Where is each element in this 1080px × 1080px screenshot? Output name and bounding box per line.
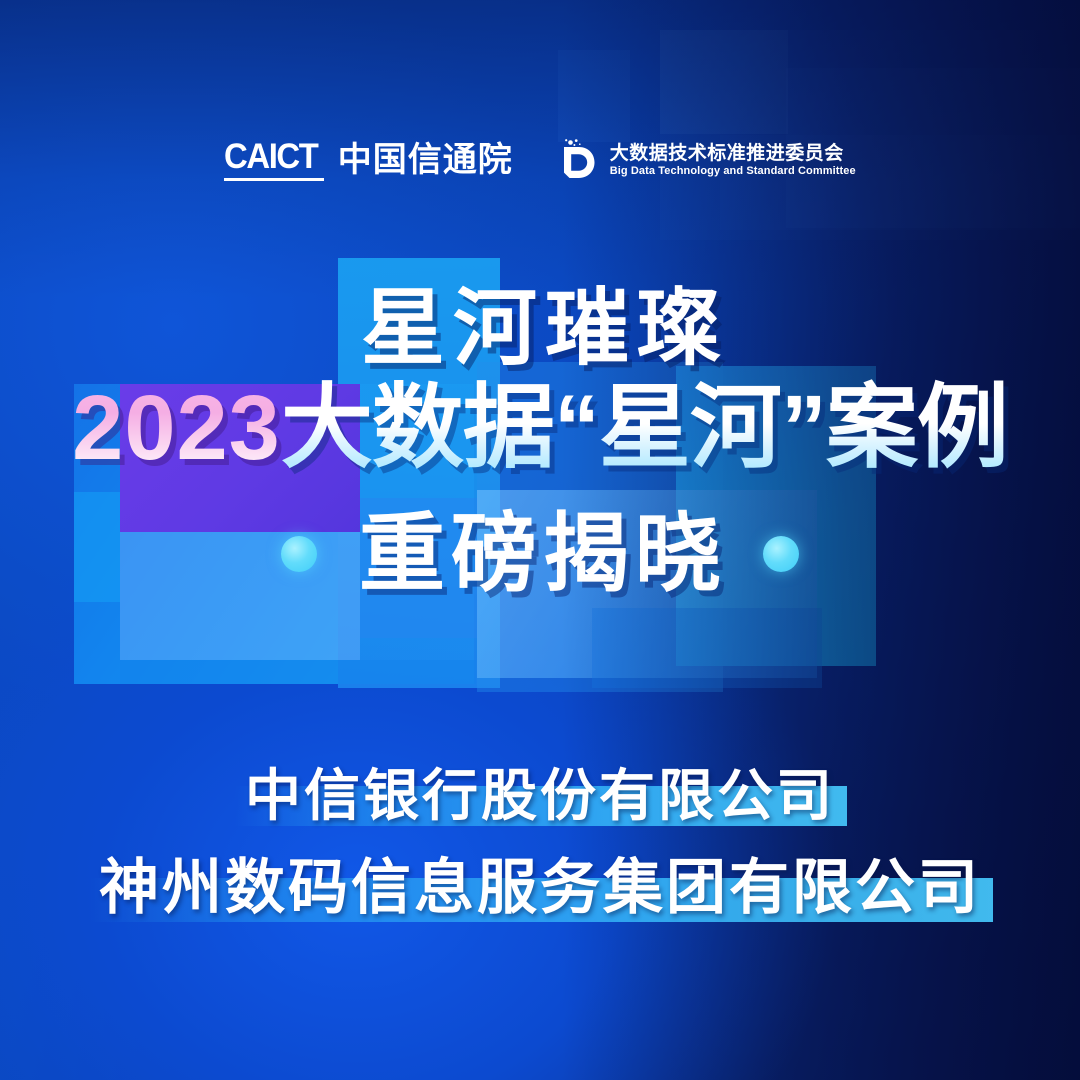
bdtsc-name-cn: 大数据技术标准推进委员会 bbox=[610, 144, 856, 163]
headline-group: 星河璀璨 2023大数据“星河”案例 重磅揭晓 bbox=[0, 286, 1080, 597]
logo-row: CAICT 中国信通院 大数据技术标准推进委员会 Big Data T bbox=[0, 138, 1080, 182]
winner-list: 中信银行股份有限公司 神州数码信息服务集团有限公司 bbox=[0, 768, 1080, 918]
headline-line-2-text: 大数据“星河”案例 bbox=[281, 377, 1008, 479]
caict-underline-rule bbox=[224, 178, 323, 181]
headline-year: 2023 bbox=[72, 377, 281, 479]
headline-line-1: 星河璀璨 bbox=[0, 286, 1080, 370]
letter-d-sparkle-icon bbox=[557, 138, 597, 182]
headline-line-2: 2023大数据“星河”案例 bbox=[0, 380, 1080, 477]
winner-name: 神州数码信息服务集团有限公司 bbox=[99, 854, 981, 921]
bullet-dot-icon-right bbox=[763, 536, 799, 572]
bdtsc-logo: 大数据技术标准推进委员会 Big Data Technology and Sta… bbox=[557, 138, 856, 182]
winner-item: 中信银行股份有限公司 bbox=[245, 768, 835, 824]
bdtsc-text-block: 大数据技术标准推进委员会 Big Data Technology and Sta… bbox=[610, 144, 856, 177]
poster-canvas: CAICT 中国信通院 大数据技术标准推进委员会 Big Data T bbox=[0, 0, 1080, 1080]
winner-name: 中信银行股份有限公司 bbox=[245, 764, 835, 827]
winner-item: 神州数码信息服务集团有限公司 bbox=[99, 858, 981, 918]
caict-acronym: CAICT bbox=[224, 139, 317, 174]
caict-logo: CAICT 中国信通院 bbox=[224, 139, 512, 181]
caict-wordmark: CAICT bbox=[224, 139, 323, 181]
headline-line-3-row: 重磅揭晓 bbox=[0, 511, 1080, 597]
bullet-dot-icon-left bbox=[281, 536, 317, 572]
caict-name-cn: 中国信通院 bbox=[338, 143, 513, 181]
bdtsc-name-en: Big Data Technology and Standard Committ… bbox=[610, 166, 856, 177]
headline-line-3: 重磅揭晓 bbox=[353, 511, 727, 597]
